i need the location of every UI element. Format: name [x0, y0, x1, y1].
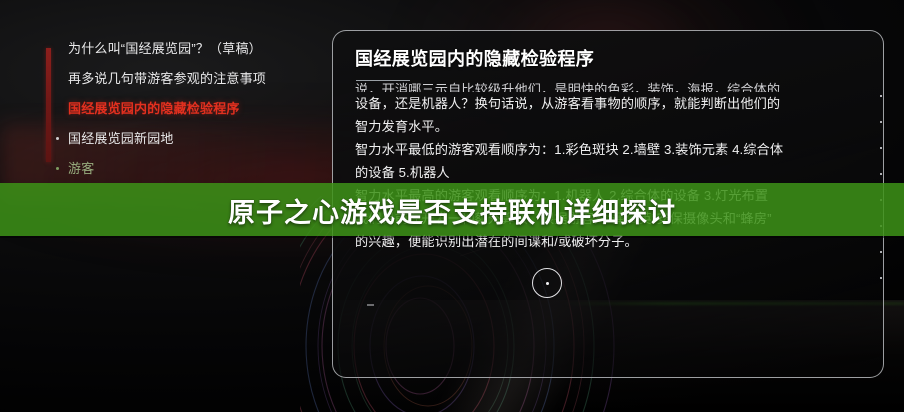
card-body-line-1: 设备，还是机器人？换句话说，从游客看事物的顺序，就能判断出他们的 — [355, 92, 863, 115]
circle-dot-marker-icon — [532, 268, 562, 298]
sidebar-item-label: 再多说几句带游客参观的注意事项 — [68, 71, 266, 86]
card-body-line-3: 智力水平最低的游客观看顺序为：1.彩色斑块 2.墙壁 3.装饰元素 4.综合体 — [355, 138, 863, 161]
sidebar-item-1[interactable]: 再多说几句带游客参观的注意事项 — [46, 70, 318, 87]
sidebar-item-3[interactable]: 国经展览园新园地 — [46, 130, 318, 147]
sidebar-item-2-active[interactable]: 国经展览园内的隐藏检验程序 — [46, 100, 318, 117]
banner-title: 原子之心游戏是否支持联机详细探讨 — [0, 186, 904, 234]
tick-dash-marker-icon — [367, 304, 374, 306]
green-banner-bottom-edge — [0, 236, 904, 238]
card-body-line-2: 智力发育水平。 — [355, 115, 863, 138]
card-body-line-0: 说，开消哪三示自比较级升他们，是明快的色彩，装饰，海报，综合体的 — [355, 78, 863, 92]
screenshot-root: 为什么叫“国经展览园”？（草稿） 再多说几句带游客参观的注意事项 国经展览园内的… — [0, 0, 904, 412]
sidebar-item-4[interactable]: 游客 — [46, 160, 318, 177]
sidebar-item-label: 国经展览园内的隐藏检验程序 — [68, 101, 240, 116]
sidebar-outline-list: 为什么叫“国经展览园”？（草稿） 再多说几句带游客参观的注意事项 国经展览园内的… — [46, 40, 318, 190]
sidebar-item-label: 国经展览园新园地 — [68, 131, 174, 146]
sidebar-item-label: 为什么叫“国经展览园”？（草稿） — [68, 41, 262, 56]
sidebar-item-label: 游客 — [68, 161, 94, 176]
card-body-line-4: 的设备 5.机器人 — [355, 161, 863, 184]
sidebar-item-0[interactable]: 为什么叫“国经展览园”？（草稿） — [46, 40, 318, 57]
card-title: 国经展览园内的隐藏检验程序 — [355, 47, 863, 71]
